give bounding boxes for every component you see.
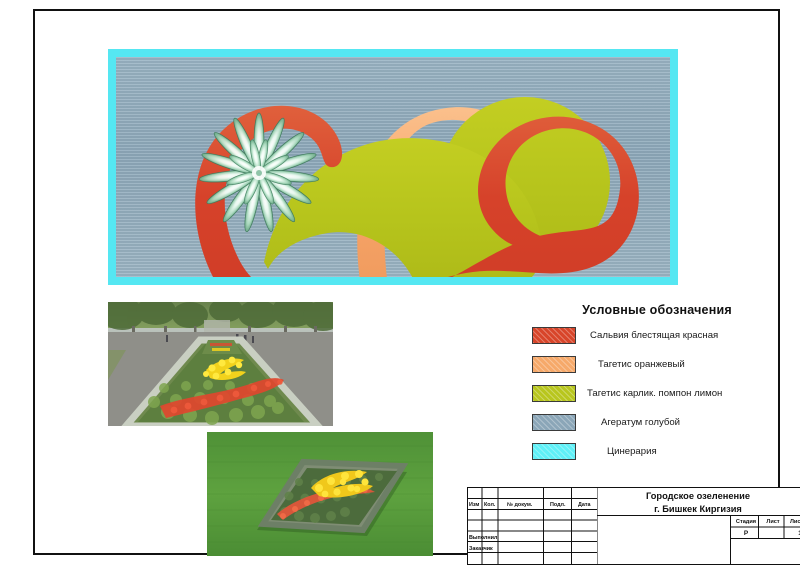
tb-col-kol: Кол. — [484, 503, 495, 508]
tb-stage-value: Р — [732, 530, 760, 537]
plan-graphics — [116, 57, 670, 277]
tb-col-docnum: № докум. — [507, 503, 532, 508]
legend-swatch-salvia — [532, 327, 576, 344]
legend-item-tagetes-lemon: Тагетис карлик. помпон лимон — [532, 384, 764, 403]
tb-col-podl: Подл. — [550, 503, 565, 508]
flowerbed-plan — [108, 49, 678, 285]
plan-canvas — [116, 57, 670, 277]
photo-street-flowerbed — [108, 302, 333, 426]
legend-label-tagetes-lemon: Тагетис карлик. помпон лимон — [587, 388, 722, 399]
tb-sheets-label: Листов — [786, 519, 800, 525]
legend-title: Условные обозначения — [550, 303, 764, 317]
legend-label-tagetes-orange: Тагетис оранжевый — [598, 359, 685, 370]
legend-item-tagetes-orange: Тагетис оранжевый — [532, 355, 764, 374]
legend-item-cineraria: Цинерария — [532, 442, 764, 461]
legend-item-salvia: Сальвия блестящая красная — [532, 326, 764, 345]
tb-role-executor: Выполнил — [469, 536, 497, 541]
tb-stage-label: Стадия — [732, 519, 760, 525]
tb-sheet-label: Лист — [760, 519, 786, 525]
tb-project-title: Городское озеленение г. Бишкек Киргизия — [598, 490, 798, 515]
legend-label-salvia: Сальвия блестящая красная — [590, 330, 718, 341]
legend-swatch-tagetes-lemon — [532, 385, 576, 402]
photo-3d-render — [207, 432, 433, 556]
legend-swatch-ageratum — [532, 414, 576, 431]
legend-item-ageratum: Агератум голубой — [532, 413, 764, 432]
legend-label-cineraria: Цинерария — [607, 446, 657, 457]
tb-col-izm: Изм — [469, 503, 479, 508]
tb-role-customer: Заказчик — [469, 547, 493, 552]
tb-project-title-line2: г. Бишкек Киргизия — [598, 503, 798, 516]
tb-sheets-value: 1 — [786, 530, 800, 537]
drawing-sheet: Условные обозначения Сальвия блестящая к… — [0, 0, 800, 566]
legend-swatch-cineraria — [532, 443, 576, 460]
tb-col-data: Дата — [578, 503, 590, 508]
legend: Условные обозначения Сальвия блестящая к… — [532, 303, 764, 471]
legend-label-ageratum: Агератум голубой — [601, 417, 680, 428]
tb-project-title-line1: Городское озеленение — [598, 490, 798, 503]
sheet-frame: Условные обозначения Сальвия блестящая к… — [33, 9, 780, 555]
title-block: Изм Кол. № докум. Подл. Дата Выполнил За… — [467, 487, 800, 565]
legend-swatch-tagetes-orange — [532, 356, 576, 373]
